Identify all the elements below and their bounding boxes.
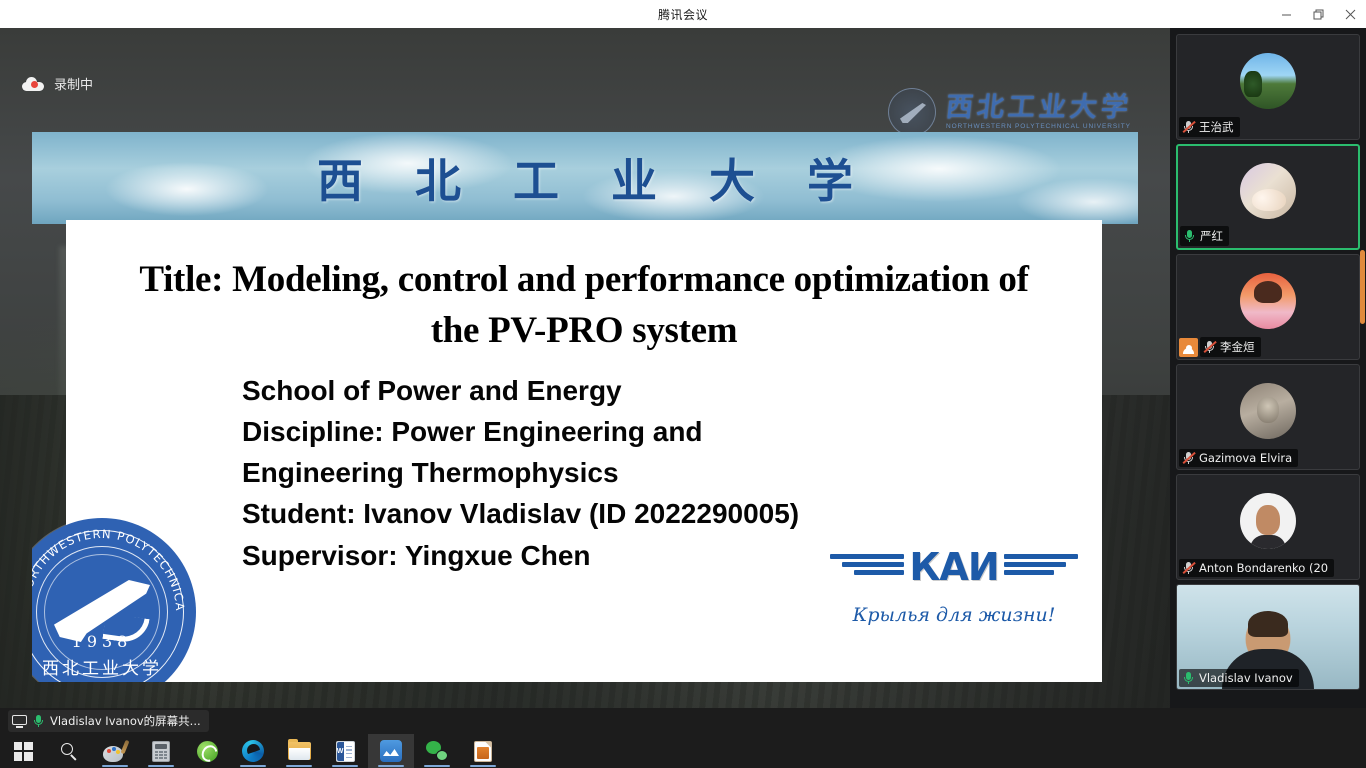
minimize-button[interactable] — [1270, 0, 1302, 28]
slide-body-line: Engineering Thermophysics — [242, 452, 1082, 493]
taskbar-item-green-app[interactable] — [184, 734, 230, 768]
screen-share-indicator[interactable]: Vladislav Ivanov的屏幕共... — [8, 710, 209, 732]
meeting-body: 录制中 西北工业大学 NORTHWESTERN POLYTECHNICAL UN… — [0, 28, 1366, 708]
mic-muted-icon — [1182, 120, 1195, 134]
taskbar-item-search[interactable] — [46, 734, 92, 768]
taskbar-item-calculator[interactable] — [138, 734, 184, 768]
word-icon: W — [336, 741, 355, 762]
window-title: 腾讯会议 — [658, 6, 708, 23]
avatar — [1240, 163, 1296, 219]
cloud-recording-icon — [22, 77, 44, 91]
taskbar-item-edge[interactable] — [230, 734, 276, 768]
participant-tile[interactable]: 严红 — [1176, 144, 1360, 250]
slide-body-line: School of Power and Energy — [242, 370, 1082, 411]
participant-tile[interactable]: Gazimova Elvira — [1176, 364, 1360, 470]
edge-icon — [242, 740, 264, 762]
mic-muted-icon — [1203, 340, 1216, 354]
slide-body-line: Student: Ivanov Vladislav (ID 2022290005… — [242, 493, 1082, 534]
npu-seal-logo: NORTHWESTERN POLYTECHNICAL UNIVERSITY 19… — [32, 518, 196, 682]
green-app-icon — [197, 741, 218, 762]
tencent-meeting-window: 腾讯会议 — [0, 0, 1366, 768]
slide-content-card: Title: Modeling, control and performance… — [66, 220, 1102, 682]
participant-name: 严红 — [1200, 228, 1223, 244]
slide-body-line: Discipline: Power Engineering and — [242, 411, 1082, 452]
participant-name: Gazimova Elvira — [1199, 451, 1292, 465]
mic-on-icon — [1183, 229, 1196, 243]
participant-name: Vladislav Ivanov — [1199, 671, 1293, 685]
participant-label: Gazimova Elvira — [1179, 449, 1298, 467]
participant-name: 李金烜 — [1220, 339, 1255, 355]
participant-label: 严红 — [1180, 226, 1229, 246]
taskbar-item-start[interactable] — [0, 734, 46, 768]
tencent-meeting-icon — [380, 740, 402, 762]
paint-icon — [103, 740, 127, 762]
avatar — [1240, 273, 1296, 329]
taskbar-item-word[interactable]: W — [322, 734, 368, 768]
close-button[interactable] — [1334, 0, 1366, 28]
screen-share-icon — [12, 715, 27, 728]
npu-seal-cn-text: 西北工业大学 — [32, 654, 196, 679]
taskbar-item-paint[interactable] — [92, 734, 138, 768]
taskbar-item-tencent-meeting[interactable] — [368, 734, 414, 768]
window-controls — [1270, 0, 1366, 28]
scrollbar-thumb[interactable] — [1360, 250, 1365, 324]
pdf-icon — [474, 741, 492, 762]
presentation-slide: 西北工业大学 Title: Modeling, control and perf… — [32, 104, 1138, 682]
participant-label: 李金烜 — [1200, 337, 1261, 357]
windows-taskbar: Vladislav Ivanov的屏幕共... — [0, 708, 1366, 768]
window-title-bar: 腾讯会议 — [0, 0, 1366, 28]
taskbar-item-wechat[interactable] — [414, 734, 460, 768]
search-icon — [61, 743, 78, 760]
npu-seal-year: 1938 — [32, 632, 196, 651]
folder-icon — [288, 742, 311, 760]
mic-on-icon — [32, 714, 45, 728]
calculator-icon — [152, 741, 170, 762]
recording-label: 录制中 — [54, 74, 93, 93]
windows-start-icon — [14, 742, 33, 761]
screen-share-label: Vladislav Ivanov的屏幕共... — [50, 713, 201, 729]
restore-button[interactable] — [1302, 0, 1334, 28]
taskbar-item-file-explorer[interactable] — [276, 734, 322, 768]
kai-logo: КАИ Крылья для жизни! — [828, 536, 1080, 644]
kai-logo-tagline: Крылья для жизни! — [828, 604, 1080, 626]
participant-label: Vladislav Ivanov — [1179, 669, 1299, 687]
shared-screen-area[interactable]: 录制中 西北工业大学 NORTHWESTERN POLYTECHNICAL UN… — [0, 28, 1170, 708]
kai-wing-left-icon — [830, 554, 904, 580]
participant-tile[interactable]: Anton Bondarenko (20 — [1176, 474, 1360, 580]
participant-tile[interactable]: 王治武 — [1176, 34, 1360, 140]
participant-tile[interactable]: 李金烜 — [1176, 254, 1360, 360]
participant-label: 王治武 — [1179, 117, 1240, 137]
mic-muted-icon — [1182, 561, 1195, 575]
participant-tile[interactable]: Vladislav Ivanov — [1176, 584, 1360, 690]
mic-on-icon — [1182, 671, 1195, 685]
slide-banner-text: 西北工业大学 — [265, 145, 905, 211]
participant-strip[interactable]: 王治武 严红 — [1170, 28, 1366, 708]
participant-label: Anton Bondarenko (20 — [1179, 559, 1334, 577]
taskbar-items: W — [0, 734, 506, 768]
participant-name: 王治武 — [1199, 119, 1234, 135]
participant-scrollbar[interactable] — [1359, 28, 1366, 708]
slide-banner: 西北工业大学 — [32, 132, 1138, 224]
kai-logo-text: КАИ — [909, 545, 998, 589]
wechat-icon — [426, 741, 448, 761]
participant-name: Anton Bondarenko (20 — [1199, 561, 1328, 575]
kai-wing-right-icon — [1004, 554, 1078, 580]
avatar — [1240, 493, 1296, 549]
avatar — [1240, 383, 1296, 439]
recording-indicator: 录制中 — [22, 74, 93, 93]
host-badge-icon — [1179, 338, 1198, 357]
slide-title: Title: Modeling, control and performance… — [126, 254, 1042, 356]
mic-muted-icon — [1182, 451, 1195, 465]
avatar — [1240, 53, 1296, 109]
taskbar-item-pdf-app[interactable] — [460, 734, 506, 768]
